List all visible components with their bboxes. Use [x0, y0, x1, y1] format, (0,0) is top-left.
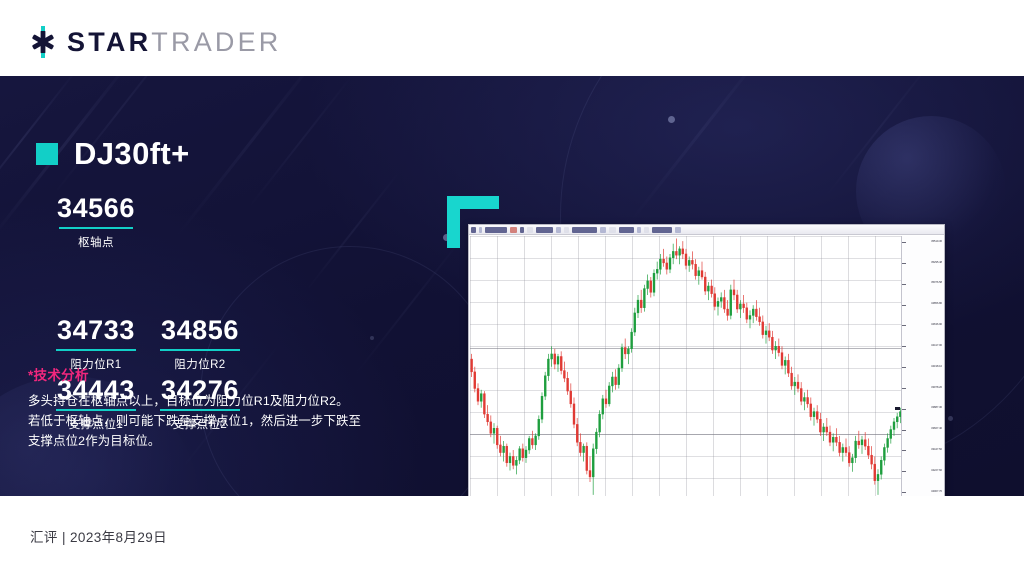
chart-toolbar[interactable] — [469, 225, 945, 235]
price-tick: 34417.00 — [931, 345, 942, 348]
chart-window[interactable]: 35519.3635295.4835076.5834856.8034636.90… — [468, 224, 945, 496]
instrument-panel: DJ30ft+ 34566 枢轴点 34733 阻力位R1 34856 阻力位R… — [0, 76, 440, 496]
pivot-value: 34566 — [40, 194, 152, 227]
price-cursor-tag — [895, 407, 900, 410]
pivot-stat: 34566 枢轴点 — [40, 194, 152, 250]
brand-name-bold: STAR — [67, 27, 151, 57]
footer-caption: 汇评 | 2023年8月29日 — [30, 526, 167, 546]
resistance1-underline — [56, 349, 136, 351]
page-title: DJ30ft+ — [74, 138, 190, 169]
price-tick: 33447.50 — [931, 449, 942, 452]
technical-analysis-block: *技术分析 多头持仓在枢轴点以上，目标位为阻力位R1及阻力位R2。 若低于枢轴点… — [28, 364, 400, 451]
technical-analysis-heading: *技术分析 — [28, 364, 400, 384]
decor-dot — [668, 116, 675, 123]
price-tick: 35076.58 — [931, 282, 942, 285]
instrument-title-row: DJ30ft+ — [36, 138, 190, 169]
page-header: STARTRADER — [0, 0, 1024, 76]
pivot-underline — [59, 227, 133, 229]
price-tick: 34198.10 — [931, 366, 942, 369]
price-tick: 35519.36 — [931, 241, 942, 244]
resistance1-value: 34733 — [38, 316, 154, 349]
chart-plot-area[interactable] — [470, 236, 902, 496]
resistance2-value: 34856 — [142, 316, 258, 349]
price-tick: 33887.30 — [931, 407, 942, 410]
resistance2-underline — [160, 349, 240, 351]
brand-name-light: TRADER — [151, 27, 281, 57]
decor-dot — [948, 416, 953, 421]
pivot-label: 枢轴点 — [40, 234, 152, 250]
price-tick: 35295.48 — [931, 262, 942, 265]
price-axis: 35519.3635295.4835076.5834856.8034636.90… — [901, 236, 944, 496]
logo-tick-top — [41, 26, 45, 31]
candlestick-series — [470, 236, 902, 496]
price-tick: 33978.20 — [931, 387, 942, 390]
star-asterisk-icon — [28, 26, 58, 58]
price-tick: 33667.40 — [931, 428, 942, 431]
price-tick: 34856.80 — [931, 303, 942, 306]
brand-wordmark: STARTRADER — [67, 29, 282, 56]
page-footer: 汇评 | 2023年8月29日 — [0, 496, 1024, 576]
brand-logo: STARTRADER — [28, 26, 282, 58]
technical-analysis-line3: 支撑点位2作为目标位。 — [28, 431, 400, 451]
technical-analysis-line1: 多头持仓在枢轴点以上，目标位为阻力位R1及阻力位R2。 — [28, 391, 400, 411]
price-tick: 34007.70 — [931, 491, 942, 494]
hero-stage: DJ30ft+ 34566 枢轴点 34733 阻力位R1 34856 阻力位R… — [0, 76, 1024, 496]
technical-analysis-line2: 若低于枢轴点，则可能下跌至支撑点位1，然后进一步下跌至 — [28, 411, 400, 431]
square-bullet-icon — [36, 143, 58, 165]
logo-tick-bottom — [41, 53, 45, 58]
price-tick: 34636.90 — [931, 324, 942, 327]
price-tick: 34227.60 — [931, 470, 942, 473]
